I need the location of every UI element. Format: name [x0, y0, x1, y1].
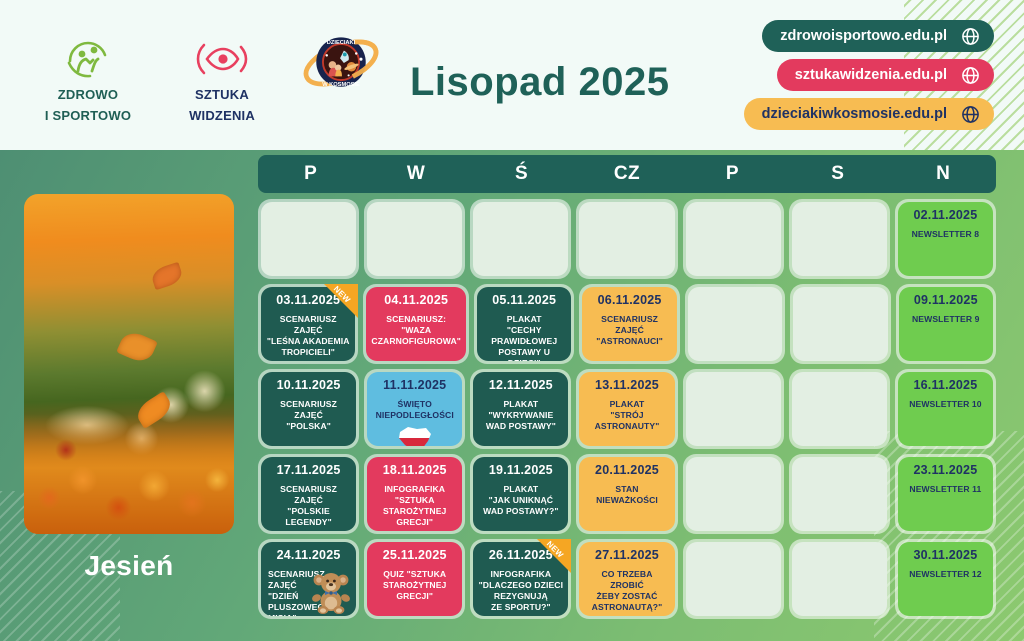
- calendar-cell-inner: 06.11.2025SCENARIUSZ ZAJĘĆ"ASTRONAUCI": [582, 287, 676, 361]
- calendar-cell-inner: [367, 202, 462, 276]
- cell-date: 23.11.2025: [913, 464, 977, 478]
- calendar-cell-inner: 24.11.2025SCENARIUSZ ZAJĘĆ"DZIEŃPLUSZOWE…: [261, 542, 356, 616]
- calendar-cell-inner: 19.11.2025PLAKAT"JAK UNIKNĄĆWAD POSTAWY?…: [473, 457, 568, 531]
- cell-date: 30.11.2025: [913, 549, 977, 563]
- calendar-cell-empty: [470, 199, 571, 279]
- link-dzieciakiwkosmosie[interactable]: dzieciakiwkosmosie.edu.pl: [744, 98, 994, 130]
- calendar-cell-25-11-2025[interactable]: 25.11.2025QUIZ "SZTUKASTAROŻYTNEJ GRECJI…: [364, 539, 465, 619]
- calendar-body: Jesień P W Ś CZ P S N 02.11.2025NEWSLETT…: [0, 150, 1024, 641]
- calendar-cell-inner: 26.11.2025INFOGRAFIKA"DLACZEGO DZIECIREZ…: [473, 542, 568, 616]
- calendar-cell-empty: [789, 199, 890, 279]
- calendar-cell-20-11-2025[interactable]: 20.11.2025STAN NIEWAŻKOŚCI: [576, 454, 677, 534]
- cell-date: 24.11.2025: [277, 549, 341, 563]
- season-photo: [24, 194, 234, 534]
- calendar-cell-inner: 17.11.2025SCENARIUSZ ZAJĘĆ"POLSKIE LEGEN…: [261, 457, 356, 531]
- calendar-cell-inner: 02.11.2025NEWSLETTER 8: [898, 202, 993, 276]
- cell-description: NEWSLETTER 9: [912, 314, 980, 325]
- cell-description: PLAKAT"CECHY PRAWIDŁOWEJPOSTAWY U DZIECI…: [482, 314, 566, 361]
- cell-description: CO TRZEBA ZROBIĆŻEBY ZOSTAĆASTRONAUTĄ?": [584, 569, 669, 613]
- space-badge-icon: DZIECIAKI W KOSMOSIE: [302, 32, 380, 94]
- calendar-cell-02-11-2025[interactable]: 02.11.2025NEWSLETTER 8: [895, 199, 996, 279]
- calendar-cell-05-11-2025[interactable]: 05.11.2025PLAKAT"CECHY PRAWIDŁOWEJPOSTAW…: [474, 284, 574, 364]
- link-sztukawidzenia[interactable]: sztukawidzenia.edu.pl: [777, 59, 994, 91]
- calendar-cell-inner: [686, 542, 781, 616]
- calendar-cell-inner: 12.11.2025PLAKAT "WYKRYWANIEWAD POSTAWY": [473, 372, 568, 446]
- calendar-cell-11-11-2025[interactable]: 11.11.2025ŚWIĘTONIEPODLEGŁOŚCI: [364, 369, 465, 449]
- calendar-cell-03-11-2025[interactable]: 03.11.2025SCENARIUSZ ZAJĘĆ"LEŚNA AKADEMI…: [258, 284, 358, 364]
- calendar-cell-inner: 18.11.2025INFOGRAFIKA"SZTUKASTAROŻYTNEJ …: [367, 457, 462, 531]
- calendar-cell-inner: [792, 457, 887, 531]
- cell-description: PLAKAT"STRÓJ ASTRONAUTY": [584, 399, 669, 432]
- calendar-cell-inner: [793, 287, 887, 361]
- calendar-cell-09-11-2025[interactable]: 09.11.2025NEWSLETTER 9: [896, 284, 996, 364]
- logo-label-line2: I SPORTOWO: [34, 109, 142, 124]
- site-links: zdrowoisportowo.edu.pl sztukawidzenia.ed…: [744, 20, 994, 130]
- globe-icon: [961, 27, 980, 46]
- calendar-cell-16-11-2025[interactable]: 16.11.2025NEWSLETTER 10: [895, 369, 996, 449]
- logo-label-line2: WIDZENIA: [168, 109, 276, 124]
- weekday-cz: CZ: [574, 163, 679, 185]
- weekday-s2: S: [785, 163, 890, 185]
- people-icon: [34, 36, 142, 82]
- calendar-cell-inner: 16.11.2025NEWSLETTER 10: [898, 372, 993, 446]
- cell-description: QUIZ "SZTUKASTAROŻYTNEJ GRECJI": [372, 569, 457, 602]
- calendar-cell-19-11-2025[interactable]: 19.11.2025PLAKAT"JAK UNIKNĄĆWAD POSTAWY?…: [470, 454, 571, 534]
- weekday-n: N: [891, 163, 996, 185]
- season-panel: Jesień: [24, 194, 234, 582]
- calendar-week-row: 02.11.2025NEWSLETTER 8: [258, 199, 996, 279]
- calendar-page: ZDROWO I SPORTOWO SZTUKA WIDZENIA: [0, 0, 1024, 641]
- logo-dzieciaki-w-kosmosie[interactable]: DZIECIAKI W KOSMOSIE: [302, 36, 388, 94]
- weekday-p1: P: [258, 163, 363, 185]
- calendar-cell-empty: [789, 369, 890, 449]
- season-label: Jesień: [24, 550, 234, 582]
- weekday-s1: Ś: [469, 163, 574, 185]
- link-label: zdrowoisportowo.edu.pl: [780, 28, 947, 44]
- cell-description: SCENARIUSZ ZAJĘĆ"POLSKIE LEGENDY": [266, 484, 351, 528]
- calendar-cell-inner: [792, 542, 887, 616]
- calendar-cell-inner: [792, 202, 887, 276]
- cell-description: NEWSLETTER 10: [909, 399, 981, 410]
- calendar-cell-06-11-2025[interactable]: 06.11.2025SCENARIUSZ ZAJĘĆ"ASTRONAUCI": [579, 284, 679, 364]
- logo-label-line1: ZDROWO: [34, 88, 142, 103]
- svg-text:DZIECIAKI: DZIECIAKI: [327, 40, 356, 46]
- cell-date: 04.11.2025: [384, 294, 448, 308]
- calendar-cell-empty: [683, 199, 784, 279]
- cell-description: SCENARIUSZ ZAJĘĆ"POLSKA": [266, 399, 351, 432]
- cell-date: 19.11.2025: [489, 464, 553, 478]
- calendar-week-row: 17.11.2025SCENARIUSZ ZAJĘĆ"POLSKIE LEGEN…: [258, 454, 996, 534]
- calendar-cell-inner: [688, 287, 782, 361]
- cell-date: 27.11.2025: [595, 549, 659, 563]
- page-header: ZDROWO I SPORTOWO SZTUKA WIDZENIA: [0, 0, 1024, 150]
- weekday-p2: P: [680, 163, 785, 185]
- calendar-cell-inner: 04.11.2025SCENARIUSZ:"WAZACZARNOFIGUROWA…: [366, 287, 466, 361]
- calendar-week-row: 10.11.2025SCENARIUSZ ZAJĘĆ"POLSKA"11.11.…: [258, 369, 996, 449]
- calendar-cell-24-11-2025[interactable]: 24.11.2025SCENARIUSZ ZAJĘĆ"DZIEŃPLUSZOWE…: [258, 539, 359, 619]
- link-label: dzieciakiwkosmosie.edu.pl: [762, 106, 947, 122]
- calendar-cell-04-11-2025[interactable]: 04.11.2025SCENARIUSZ:"WAZACZARNOFIGUROWA…: [363, 284, 469, 364]
- calendar-cell-17-11-2025[interactable]: 17.11.2025SCENARIUSZ ZAJĘĆ"POLSKIE LEGEN…: [258, 454, 359, 534]
- calendar-cell-empty: [683, 369, 784, 449]
- cell-date: 18.11.2025: [383, 464, 447, 478]
- calendar-cell-empty: [685, 284, 785, 364]
- calendar-cell-26-11-2025[interactable]: 26.11.2025INFOGRAFIKA"DLACZEGO DZIECIREZ…: [470, 539, 571, 619]
- calendar-week-row: 03.11.2025SCENARIUSZ ZAJĘĆ"LEŚNA AKADEMI…: [258, 284, 996, 364]
- calendar-cell-inner: [473, 202, 568, 276]
- cell-description: NEWSLETTER 11: [909, 484, 981, 495]
- cell-date: 17.11.2025: [277, 464, 341, 478]
- calendar-cell-inner: 05.11.2025PLAKAT"CECHY PRAWIDŁOWEJPOSTAW…: [477, 287, 571, 361]
- calendar-cell-13-11-2025[interactable]: 13.11.2025PLAKAT"STRÓJ ASTRONAUTY": [576, 369, 677, 449]
- cell-date: 09.11.2025: [914, 294, 978, 308]
- calendar-cell-inner: 25.11.2025QUIZ "SZTUKASTAROŻYTNEJ GRECJI…: [367, 542, 462, 616]
- cell-date: 10.11.2025: [277, 379, 341, 393]
- cell-date: 02.11.2025: [913, 209, 977, 223]
- calendar-cell-inner: 20.11.2025STAN NIEWAŻKOŚCI: [579, 457, 674, 531]
- calendar-cell-10-11-2025[interactable]: 10.11.2025SCENARIUSZ ZAJĘĆ"POLSKA": [258, 369, 359, 449]
- cell-description: STAN NIEWAŻKOŚCI: [584, 484, 669, 506]
- brand-logos: ZDROWO I SPORTOWO SZTUKA WIDZENIA: [34, 36, 388, 124]
- calendar-cell-inner: 11.11.2025ŚWIĘTONIEPODLEGŁOŚCI: [367, 372, 462, 446]
- calendar-cell-30-11-2025[interactable]: 30.11.2025NEWSLETTER 12: [895, 539, 996, 619]
- calendar-cell-inner: [261, 202, 356, 276]
- cell-description: NEWSLETTER 8: [912, 229, 980, 240]
- link-zdrowoisportowo[interactable]: zdrowoisportowo.edu.pl: [762, 20, 994, 52]
- logo-label-line1: SZTUKA: [168, 88, 276, 103]
- logo-zdrowo-i-sportowo[interactable]: ZDROWO I SPORTOWO: [34, 36, 142, 124]
- cell-description: INFOGRAFIKA"SZTUKASTAROŻYTNEJ GRECJI": [372, 484, 457, 528]
- calendar-cell-inner: 30.11.2025NEWSLETTER 12: [898, 542, 993, 616]
- calendar-cell-empty: [790, 284, 890, 364]
- calendar-cell-empty: [683, 539, 784, 619]
- cell-description: INFOGRAFIKA"DLACZEGO DZIECIREZYGNUJĄZE S…: [479, 569, 563, 613]
- calendar-cell-inner: 03.11.2025SCENARIUSZ ZAJĘĆ"LEŚNA AKADEMI…: [261, 287, 355, 361]
- calendar-cell-inner: [686, 372, 781, 446]
- cell-date: 20.11.2025: [595, 464, 659, 478]
- calendar-cell-inner: 13.11.2025PLAKAT"STRÓJ ASTRONAUTY": [579, 372, 674, 446]
- calendar-cell-inner: [686, 202, 781, 276]
- weekday-header-row: P W Ś CZ P S N: [258, 155, 996, 193]
- calendar-cell-empty: [576, 199, 677, 279]
- cell-description: SCENARIUSZ ZAJĘĆ"LEŚNA AKADEMIATROPICIEL…: [266, 314, 350, 358]
- calendar-weeks: 02.11.2025NEWSLETTER 803.11.2025SCENARIU…: [258, 199, 996, 619]
- teddy-bear-icon: [310, 570, 352, 614]
- calendar-cell-27-11-2025[interactable]: 27.11.2025CO TRZEBA ZROBIĆŻEBY ZOSTAĆAST…: [576, 539, 677, 619]
- calendar-cell-12-11-2025[interactable]: 12.11.2025PLAKAT "WYKRYWANIEWAD POSTAWY": [470, 369, 571, 449]
- cell-description: NEWSLETTER 12: [909, 569, 981, 580]
- calendar-cell-empty: [258, 199, 359, 279]
- calendar-cell-23-11-2025[interactable]: 23.11.2025NEWSLETTER 11: [895, 454, 996, 534]
- link-label: sztukawidzenia.edu.pl: [795, 67, 947, 83]
- leaf-bed: [24, 414, 234, 534]
- cell-date: 26.11.2025: [489, 549, 553, 563]
- cell-date: 25.11.2025: [383, 549, 447, 563]
- calendar-cell-18-11-2025[interactable]: 18.11.2025INFOGRAFIKA"SZTUKASTAROŻYTNEJ …: [364, 454, 465, 534]
- svg-text:W KOSMOSIE: W KOSMOSIE: [322, 82, 360, 88]
- calendar-grid: P W Ś CZ P S N 02.11.2025NEWSLETTER 803.…: [258, 155, 996, 624]
- cell-date: 13.11.2025: [595, 379, 659, 393]
- cell-date: 12.11.2025: [489, 379, 553, 393]
- cell-date: 11.11.2025: [383, 379, 446, 393]
- cell-description: PLAKAT "WYKRYWANIEWAD POSTAWY": [478, 399, 563, 432]
- cell-description: ŚWIĘTONIEPODLEGŁOŚCI: [376, 399, 454, 421]
- calendar-cell-inner: [686, 457, 781, 531]
- calendar-cell-inner: 23.11.2025NEWSLETTER 11: [898, 457, 993, 531]
- calendar-cell-empty: [789, 539, 890, 619]
- calendar-cell-inner: 10.11.2025SCENARIUSZ ZAJĘĆ"POLSKA": [261, 372, 356, 446]
- calendar-cell-inner: 09.11.2025NEWSLETTER 9: [899, 287, 993, 361]
- cell-date: 05.11.2025: [492, 294, 556, 308]
- cell-description: SCENARIUSZ:"WAZACZARNOFIGUROWA": [371, 314, 461, 347]
- cell-date: 16.11.2025: [913, 379, 977, 393]
- weekday-w: W: [363, 163, 468, 185]
- cell-date: 06.11.2025: [598, 294, 662, 308]
- globe-icon: [961, 105, 980, 124]
- page-title: Lisopad 2025: [410, 60, 669, 105]
- eye-icon: [168, 36, 276, 82]
- calendar-week-row: 24.11.2025SCENARIUSZ ZAJĘĆ"DZIEŃPLUSZOWE…: [258, 539, 996, 619]
- cell-description: SCENARIUSZ ZAJĘĆ"ASTRONAUCI": [587, 314, 671, 347]
- calendar-cell-inner: [579, 202, 674, 276]
- poland-map-icon: [395, 423, 435, 446]
- cell-date: 03.11.2025: [276, 294, 340, 308]
- cell-description: PLAKAT"JAK UNIKNĄĆWAD POSTAWY?": [483, 484, 558, 517]
- calendar-cell-inner: [792, 372, 887, 446]
- calendar-cell-empty: [789, 454, 890, 534]
- logo-sztuka-widzenia[interactable]: SZTUKA WIDZENIA: [168, 36, 276, 124]
- calendar-cell-empty: [683, 454, 784, 534]
- calendar-cell-empty: [364, 199, 465, 279]
- calendar-cell-inner: 27.11.2025CO TRZEBA ZROBIĆŻEBY ZOSTAĆAST…: [579, 542, 674, 616]
- globe-icon: [961, 66, 980, 85]
